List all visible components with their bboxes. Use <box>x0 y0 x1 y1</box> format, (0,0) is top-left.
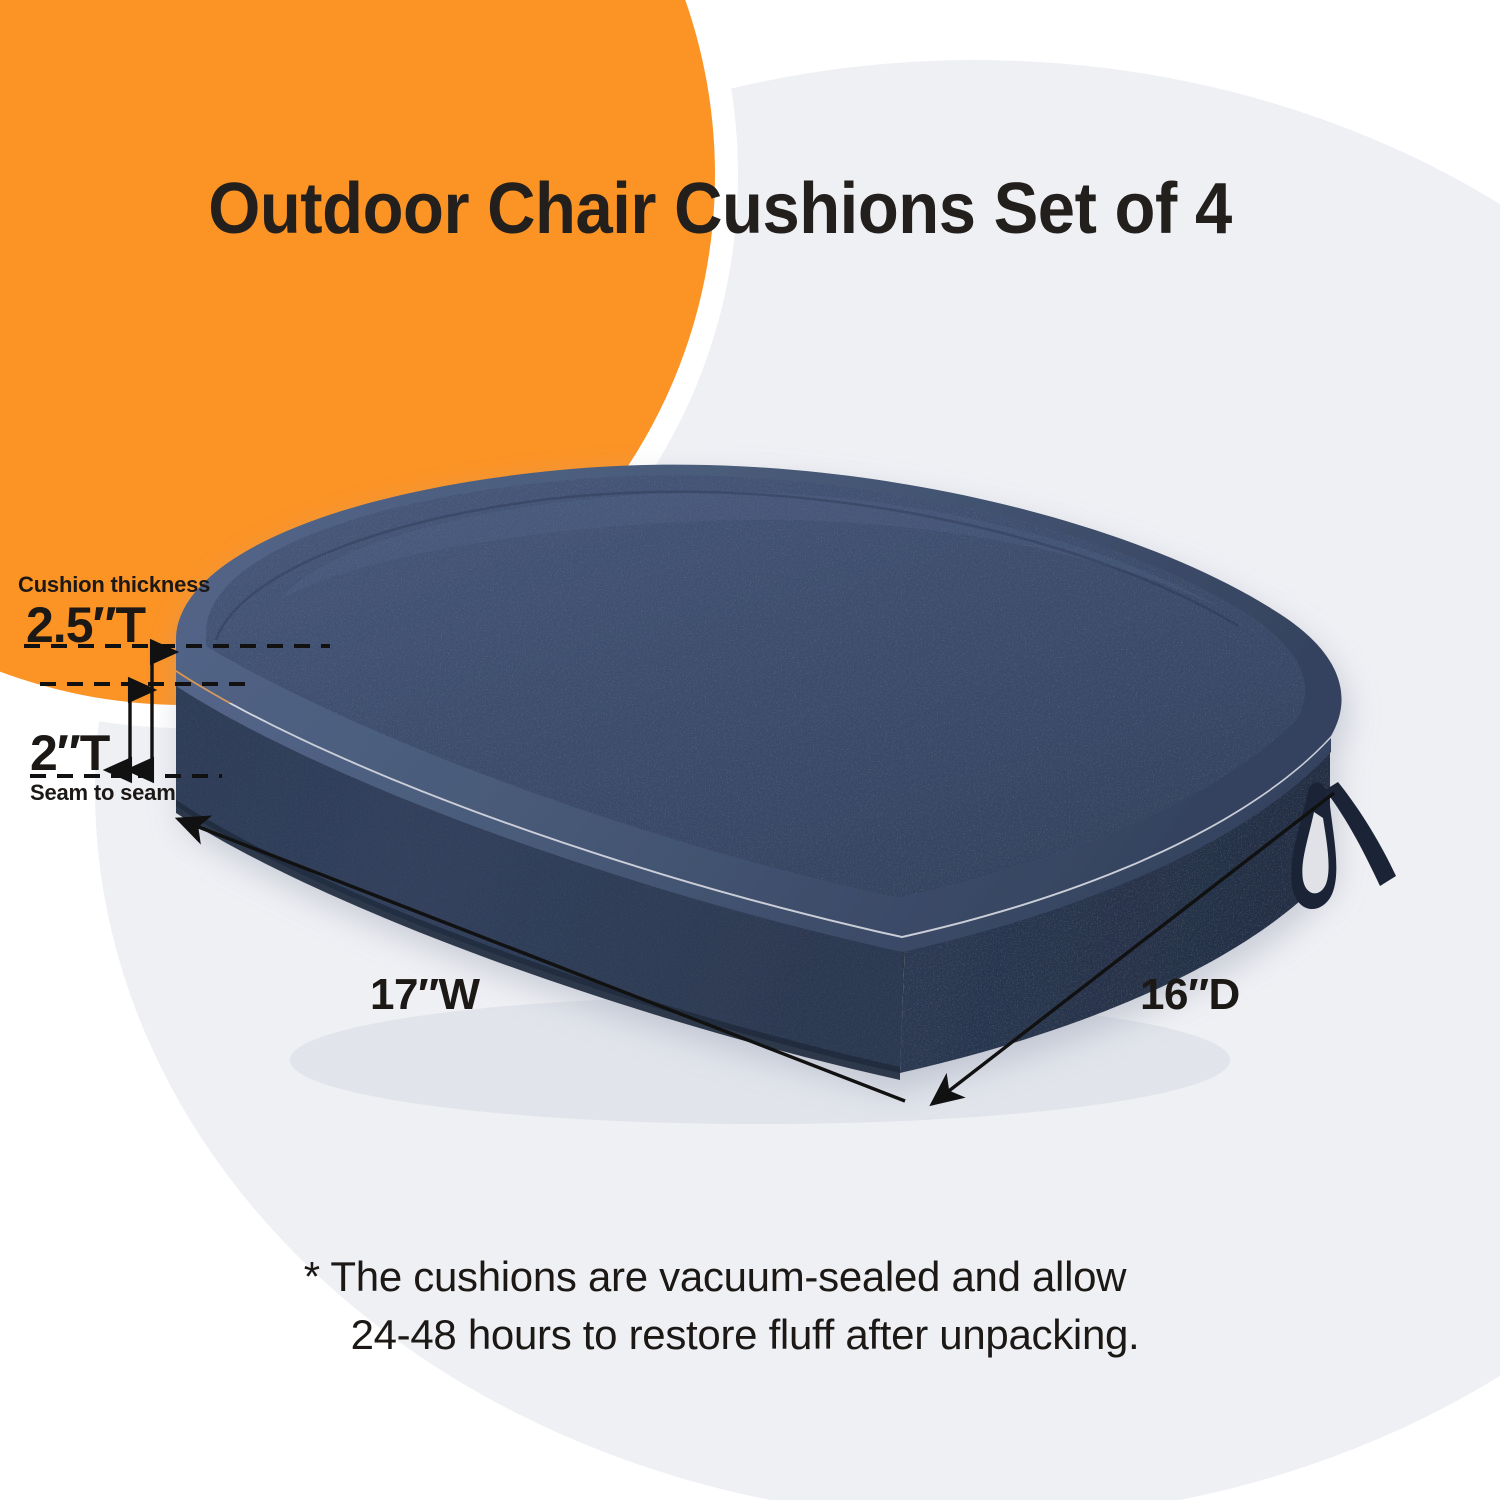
product-infographic: Outdoor Chair Cushions Set of 4 <box>0 0 1500 1500</box>
cushion-body <box>176 465 1342 1080</box>
footnote-line-2: 24-48 hours to restore fluff after unpac… <box>0 1306 1430 1364</box>
footnote: * The cushions are vacuum-sealed and all… <box>0 1248 1430 1364</box>
footnote-line-1: * The cushions are vacuum-sealed and all… <box>0 1248 1430 1306</box>
cushion-ties <box>1291 782 1396 909</box>
page-title: Outdoor Chair Cushions Set of 4 <box>50 168 1389 250</box>
